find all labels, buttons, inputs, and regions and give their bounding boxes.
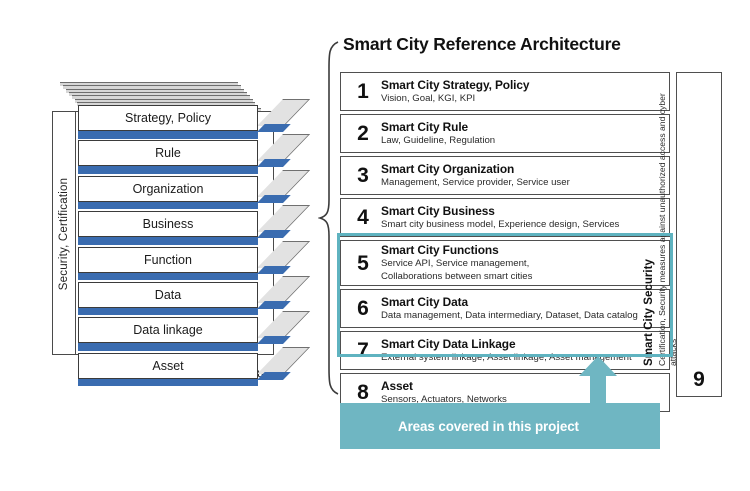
layer-number: 5 — [345, 253, 381, 274]
smart-city-reference-architecture-figure: Smart City Reference Architecture 1Smart… — [318, 34, 738, 464]
security-column-subtitle: Certification, Security measures against… — [657, 76, 678, 366]
layer-slab — [78, 272, 258, 281]
security-column-number: 9 — [677, 368, 721, 392]
upward-arrow-icon — [579, 356, 617, 406]
society-layer-label: Strategy, Policy — [78, 105, 258, 131]
architecture-layer-row: 3Smart City OrganizationManagement, Serv… — [340, 156, 670, 195]
security-column-title: Smart City Security — [642, 259, 655, 366]
layer-subtitle: Service API, Service management, Collabo… — [381, 258, 663, 283]
layer-text-block: Smart City FunctionsService API, Service… — [381, 243, 669, 283]
society-layer-row: Data linkage — [78, 317, 274, 352]
layer-title: Smart City Strategy, Policy — [381, 78, 663, 92]
layer-title: Smart City Rule — [381, 120, 663, 134]
society-layer-row: Function — [78, 247, 274, 282]
layer-slab — [78, 201, 258, 210]
layer-number: 4 — [345, 207, 381, 228]
society-layer-row: Strategy, Policy — [78, 105, 274, 140]
architecture-layer-row: 1Smart City Strategy, PolicyVision, Goal… — [340, 72, 670, 111]
diagram-canvas: Security, Certification Strategy, Policy… — [0, 0, 750, 491]
layer-subtitle: External system linkage, Asset linkage, … — [381, 352, 663, 364]
layer-title: Smart City Functions — [381, 243, 663, 257]
layer-subtitle: Data management, Data intermediary, Data… — [381, 310, 663, 322]
layer-slab — [78, 378, 258, 387]
layer-title: Smart City Business — [381, 204, 663, 218]
layer-slab — [78, 236, 258, 245]
society-layer-label: Function — [78, 247, 258, 273]
covered-areas-banner: Areas covered in this project — [340, 403, 660, 449]
layer-slab — [78, 165, 258, 174]
layer-slab — [78, 307, 258, 316]
society-layer-row: Data — [78, 282, 274, 317]
layer-slab — [78, 130, 258, 139]
layer-text-block: Smart City OrganizationManagement, Servi… — [381, 162, 669, 189]
architecture-layer-row: 2Smart City RuleLaw, Guideline, Regulati… — [340, 114, 670, 153]
society-5-reference-architecture-figure: Security, Certification Strategy, Policy… — [52, 80, 302, 400]
society-layer-label: Rule — [78, 140, 258, 166]
society-layer-label: Organization — [78, 176, 258, 202]
layer-subtitle: Management, Service provider, Service us… — [381, 177, 663, 189]
layer-subtitle: Smart city business model, Experience de… — [381, 219, 663, 231]
architecture-layer-row: 5Smart City FunctionsService API, Servic… — [340, 240, 670, 286]
layer-number: 3 — [345, 165, 381, 186]
society-layer-label: Asset — [78, 353, 258, 379]
layer-title: Smart City Organization — [381, 162, 663, 176]
society-layer-label: Business — [78, 211, 258, 237]
layer-title: Asset — [381, 379, 663, 393]
architecture-layer-row: 4Smart City BusinessSmart city business … — [340, 198, 670, 237]
society-layer-label: Data linkage — [78, 317, 258, 343]
society-layer-row: Rule — [78, 140, 274, 175]
layer-title: Smart City Data Linkage — [381, 337, 663, 351]
covered-areas-banner-text: Areas covered in this project — [340, 419, 579, 434]
society-layer-row: Organization — [78, 176, 274, 211]
layer-text-block: Smart City DataData management, Data int… — [381, 295, 669, 322]
society-layer-label: Data — [78, 282, 258, 308]
society-layer-list: Strategy, PolicyRuleOrganizationBusiness… — [78, 105, 274, 388]
layer-text-block: Smart City BusinessSmart city business m… — [381, 204, 669, 231]
layer-title: Smart City Data — [381, 295, 663, 309]
society-layer-row: Asset — [78, 353, 274, 388]
layer-slab — [78, 342, 258, 351]
society-layer-row: Business — [78, 211, 274, 246]
page-title: Smart City Reference Architecture — [343, 34, 621, 55]
smart-city-layer-list: 1Smart City Strategy, PolicyVision, Goal… — [340, 72, 670, 415]
grouping-brace-icon — [318, 40, 340, 396]
layer-number: 2 — [345, 123, 381, 144]
layer-text-block: Smart City RuleLaw, Guideline, Regulatio… — [381, 120, 669, 147]
layer-number: 7 — [345, 340, 381, 361]
layer-number: 1 — [345, 81, 381, 102]
layer-text-block: Smart City Data LinkageExternal system l… — [381, 337, 669, 364]
layer-subtitle: Vision, Goal, KGI, KPI — [381, 93, 663, 105]
architecture-layer-row: 7Smart City Data LinkageExternal system … — [340, 331, 670, 370]
layer-subtitle: Law, Guideline, Regulation — [381, 135, 663, 147]
layer-number: 8 — [345, 382, 381, 403]
security-certification-label: Security, Certification — [54, 113, 74, 355]
smart-city-security-column: Smart City Security Certification, Secur… — [676, 72, 722, 397]
layer-text-block: Smart City Strategy, PolicyVision, Goal,… — [381, 78, 669, 105]
security-column-rotated-text: Smart City Security Certification, Secur… — [640, 78, 680, 366]
layer-number: 6 — [345, 298, 381, 319]
architecture-layer-row: 6Smart City DataData management, Data in… — [340, 289, 670, 328]
